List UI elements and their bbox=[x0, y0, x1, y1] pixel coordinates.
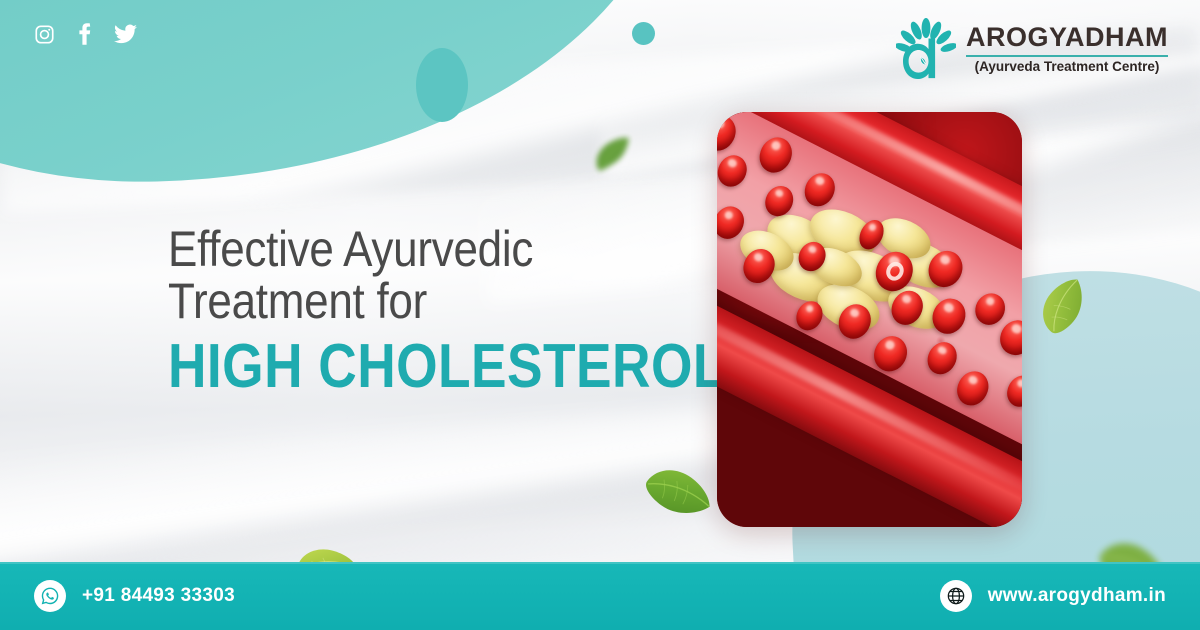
headline-line-1: Effective Ayurvedic bbox=[168, 224, 643, 276]
headline-highlight: HIGH CHOLESTEROL bbox=[168, 332, 632, 401]
leaf-right-mid bbox=[1033, 275, 1105, 347]
website-url: www.arogydham.in bbox=[988, 585, 1166, 607]
brand-logo[interactable]: AROGYADHAM (Ayurveda Treatment Centre) bbox=[896, 18, 1168, 80]
artery-cholesterol-illustration bbox=[717, 112, 1022, 527]
hero-image-card bbox=[717, 112, 1022, 527]
banner-canvas: AROGYADHAM (Ayurveda Treatment Centre) E… bbox=[0, 0, 1200, 630]
brand-logo-text: AROGYADHAM (Ayurveda Treatment Centre) bbox=[966, 23, 1168, 74]
leaf-blur-top bbox=[586, 128, 644, 186]
footer-phone[interactable]: +91 84493 33303 bbox=[34, 580, 235, 612]
brand-divider bbox=[966, 55, 1168, 57]
brand-tagline: (Ayurveda Treatment Centre) bbox=[966, 59, 1168, 75]
facebook-icon[interactable] bbox=[77, 22, 92, 46]
page-title: Effective Ayurvedic Treatment for HIGH C… bbox=[168, 224, 708, 401]
twitter-icon[interactable] bbox=[114, 24, 137, 44]
leaf-center-bottom bbox=[633, 460, 713, 540]
globe-icon bbox=[940, 580, 972, 612]
social-links bbox=[34, 22, 137, 46]
footer-website[interactable]: www.arogydham.in bbox=[940, 580, 1166, 612]
whatsapp-icon bbox=[34, 580, 66, 612]
instagram-icon[interactable] bbox=[34, 24, 55, 45]
brand-name: AROGYADHAM bbox=[966, 23, 1168, 52]
teal-dot-small bbox=[632, 22, 655, 45]
headline-line-2: Treatment for bbox=[168, 276, 643, 328]
phone-number: +91 84493 33303 bbox=[82, 585, 235, 607]
ayurveda-leaf-a-icon bbox=[896, 18, 956, 80]
teal-dot-large bbox=[416, 48, 468, 122]
contact-footer-bar: +91 84493 33303 www.arogydham.in bbox=[0, 562, 1200, 630]
